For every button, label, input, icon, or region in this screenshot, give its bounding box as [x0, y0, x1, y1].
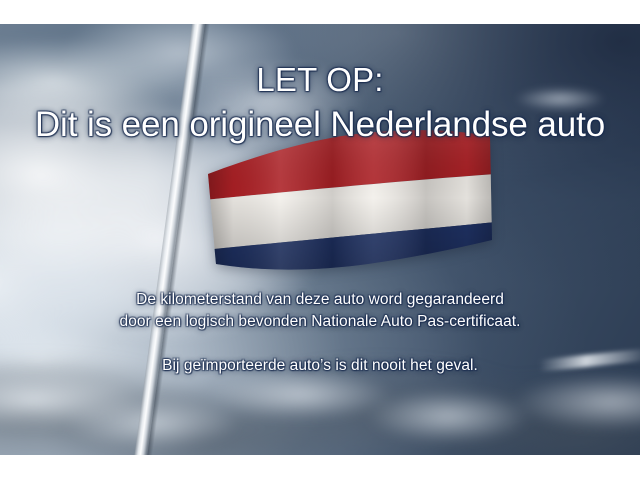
letterbox-bar-bottom [0, 455, 640, 480]
netherlands-flag [204, 122, 496, 274]
cloud-wisp-upper-right [500, 82, 620, 116]
letterbox-bar-top [0, 0, 640, 24]
photo-viewport [0, 24, 640, 455]
banner-image: LET OP: Dit is een origineel Nederlandse… [0, 0, 640, 480]
